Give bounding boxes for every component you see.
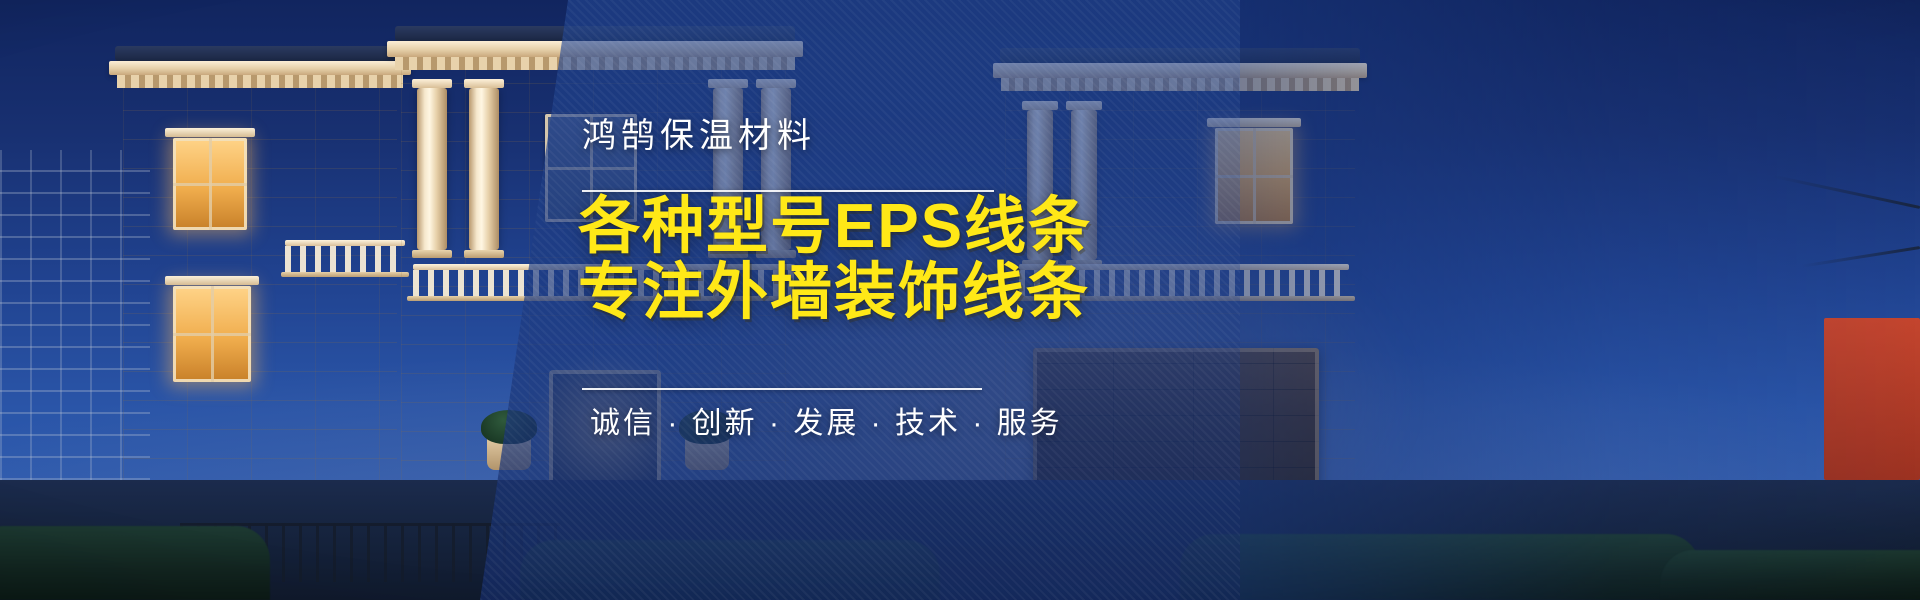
- left-wing-window-upper: [173, 138, 247, 230]
- left-balcony-rail-base: [281, 272, 409, 277]
- window-mullion: [173, 183, 247, 186]
- left-wing-cornice: [109, 61, 411, 75]
- promo-banner: 鸿鹄保温材料 各种型号EPS线条 专注外墙装饰线条 诚信 · 创新 · 发展 ·…: [0, 0, 1920, 600]
- left-wing-roofline: [115, 46, 405, 61]
- banner-text-block: 鸿鹄保温材料 各种型号EPS线条 专注外墙装饰线条 诚信 · 创新 · 发展 ·…: [560, 0, 1320, 600]
- hedge-left: [0, 526, 270, 600]
- portico-column-1: [417, 88, 447, 250]
- left-balcony-balustrade: [285, 246, 405, 272]
- overlay-right-fade: [1240, 0, 1920, 600]
- left-wing-dentils: [117, 75, 403, 88]
- window-header: [165, 128, 255, 137]
- brand-name: 鸿鹄保温材料: [582, 108, 816, 157]
- portico-column-2: [469, 88, 499, 250]
- headline-line-2: 专注外墙装饰线条: [578, 262, 1090, 324]
- left-wing-wall: [123, 88, 397, 488]
- headline-line-1: 各种型号EPS线条: [578, 196, 1092, 258]
- tagline: 诚信 · 创新 · 发展 · 技术 · 服务: [590, 398, 1063, 442]
- divider-above-tagline: [582, 388, 982, 390]
- window-mullion: [173, 333, 251, 336]
- left-wing-window-lower: [173, 286, 251, 382]
- window-header: [165, 276, 259, 285]
